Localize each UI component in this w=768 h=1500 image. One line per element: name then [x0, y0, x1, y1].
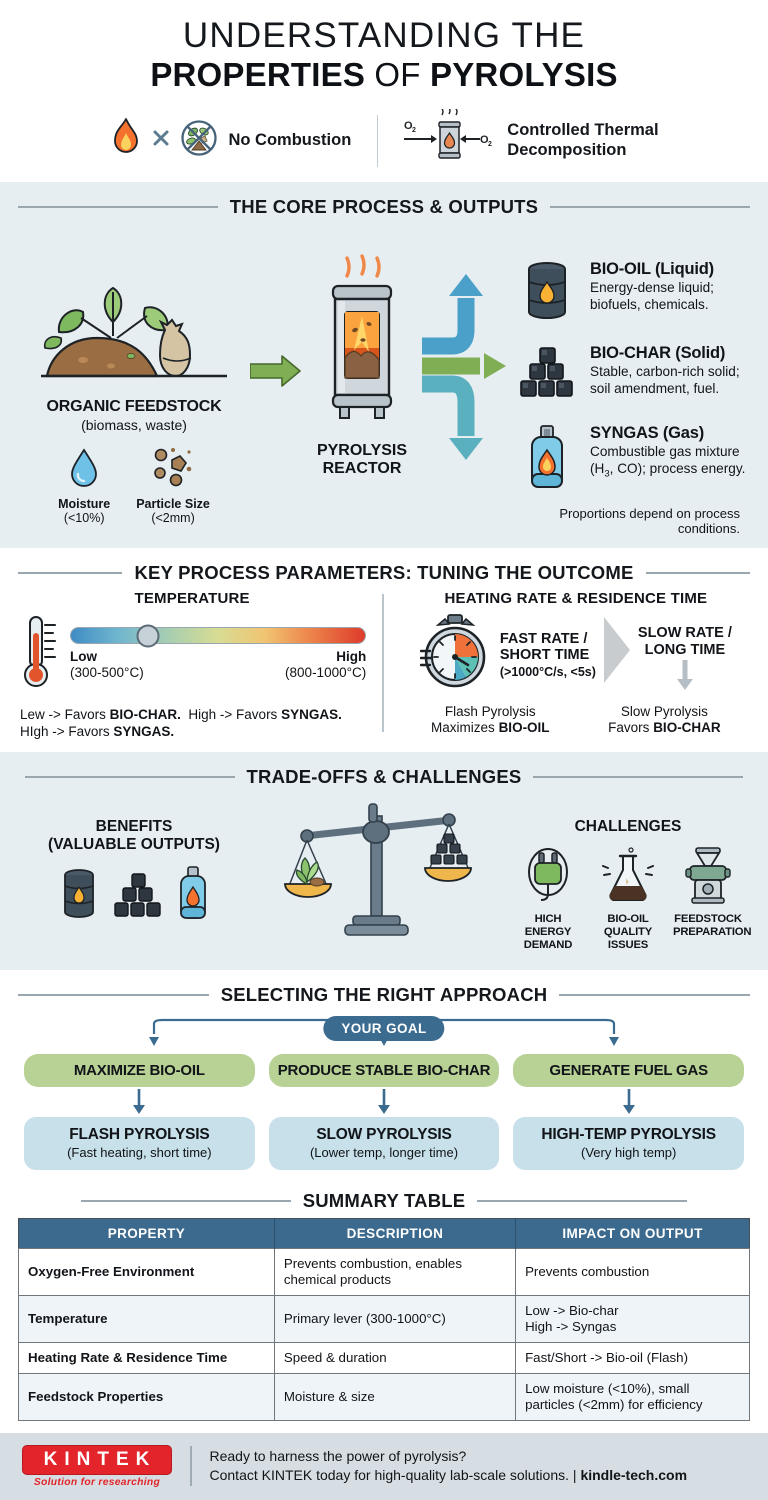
- temp-high-label: High: [285, 649, 366, 665]
- feedstock-property-particle-size: Particle Size (<2mm): [136, 447, 210, 525]
- approach-goal-card[interactable]: GENERATE FUEL GAS: [513, 1054, 744, 1087]
- heating-rate-captions: Flash Pyrolysis Maximizes BIO-OIL Slow P…: [402, 704, 750, 736]
- pyrolysis-reactor-icon: [307, 416, 417, 433]
- core-process-heading-row: THE CORE PROCESS & OUTPUTS: [18, 196, 750, 218]
- output-bio-char-desc: Stable, carbon-rich solid; soil amendmen…: [590, 364, 740, 397]
- approach-path: GENERATE FUEL GAS HIGH-TEMP PYROLYSIS (V…: [513, 1054, 744, 1170]
- flask-icon: [602, 891, 654, 908]
- grinder-icon: [682, 891, 734, 908]
- temperature-gradient-bar[interactable]: [70, 627, 366, 644]
- temperature-title: TEMPERATURE: [18, 590, 366, 607]
- rule-left: [18, 206, 218, 208]
- rule-left: [18, 572, 122, 574]
- table-row: Heating Rate & Residence Time Speed & du…: [19, 1342, 750, 1373]
- approach-method-card[interactable]: FLASH PYROLYSIS (Fast heating, short tim…: [24, 1117, 255, 1170]
- table-row: Temperature Primary lever (300-1000°C) L…: [19, 1295, 750, 1342]
- output-arrows: [422, 224, 512, 484]
- bio-oil-desc1: Energy-dense liquid;: [590, 280, 714, 295]
- reactor-label: PYROLYSIS REACTOR: [302, 442, 422, 478]
- logo-wordmark: KINTEK: [22, 1445, 172, 1475]
- header-badges: No Combustion O 2 O 2: [20, 109, 748, 172]
- challenge-item: FEEDSTOCK PREPARATION: [673, 846, 743, 952]
- chal1-line3: ISSUES: [608, 939, 648, 951]
- slow-rate-group: SLOW RATE / LONG TIME: [638, 613, 732, 697]
- approach-method-card[interactable]: SLOW PYROLYSIS (Lower temp, longer time): [269, 1117, 500, 1170]
- output-bio-char: BIO-CHAR (Solid) Stable, carbon-rich sol…: [516, 344, 750, 402]
- temp-low-label: Low: [70, 649, 144, 665]
- challenges-title: CHALLENGES: [512, 818, 744, 836]
- temp-note-2: HIgh -> Favors SYNGAS.: [20, 724, 174, 739]
- cell-property: Feedstock Properties: [19, 1373, 275, 1420]
- output-syngas: SYNGAS (Gas) Combustible gas mixture (H3…: [516, 424, 750, 490]
- approach-path: MAXIMIZE BIO-OIL FLASH PYROLYSIS (Fast h…: [24, 1054, 255, 1170]
- cell-property: Temperature: [19, 1295, 275, 1342]
- output-bio-oil: BIO-OIL (Liquid) Energy-dense liquid; bi…: [516, 260, 750, 322]
- table-row: Oxygen-Free Environment Prevents combust…: [19, 1248, 750, 1295]
- column-description: DESCRIPTION: [274, 1218, 515, 1248]
- chal1-line2: QUALITY: [604, 926, 652, 938]
- section-tradeoffs: TRADE-OFFS & CHALLENGES BENEFITS (VALUAB…: [0, 752, 768, 970]
- syngas-desc2: (H3, CO); process energy.: [590, 461, 745, 476]
- approach-method-card[interactable]: HIGH-TEMP PYROLYSIS (Very high temp): [513, 1117, 744, 1170]
- flash-pyrolysis-caption: Flash Pyrolysis Maximizes BIO-OIL: [431, 704, 550, 736]
- approach-goal-card[interactable]: PRODUCE STABLE BIO-CHAR: [269, 1054, 500, 1087]
- output-syngas-text: SYNGAS (Gas) Combustible gas mixture (H3…: [590, 424, 745, 480]
- rule-right: [559, 994, 750, 996]
- challenge-item: BIO-OIL QUALITY ISSUES: [593, 846, 663, 952]
- column-impact: IMPACT ON OUTPUT: [516, 1218, 750, 1248]
- temperature-high: High (800-1000°C): [285, 649, 366, 680]
- gas-cylinder-icon: [177, 865, 209, 926]
- moisture-value: (<10%): [58, 511, 110, 525]
- cell-description: Primary lever (300-1000°C): [274, 1295, 515, 1342]
- transition-arrow-icon: [600, 613, 634, 692]
- temperature-slider[interactable]: Low (300-500°C) High (800-1000°C): [70, 613, 366, 680]
- output-bio-char-text: BIO-CHAR (Solid) Stable, carbon-rich sol…: [590, 344, 740, 397]
- approach-heading: SELECTING THE RIGHT APPROACH: [221, 984, 548, 1006]
- section-core-process: THE CORE PROCESS & OUTPUTS: [0, 182, 768, 548]
- benefits-icons: [24, 865, 244, 926]
- ctd-line2: Decomposition: [507, 141, 626, 159]
- chal0-line2: DEMAND: [524, 939, 572, 951]
- chal0-line1: HICH ENERGY: [525, 913, 572, 938]
- table-row: Feedstock Properties Moisture & size Low…: [19, 1373, 750, 1420]
- temp-low-range: (300-500°C): [70, 665, 144, 680]
- ctd-line1: Controlled Thermal: [507, 121, 658, 139]
- output-bio-oil-desc: Energy-dense liquid; biofuels, chemicals…: [590, 280, 714, 313]
- outputs-list: BIO-OIL (Liquid) Energy-dense liquid; bi…: [512, 224, 750, 536]
- heating-rate-title: HEATING RATE & RESIDENCE TIME: [402, 590, 750, 607]
- chal2-line1: FEEDSTOCK: [674, 913, 742, 925]
- footer-cta: Ready to harness the power of pyrolysis?…: [210, 1447, 688, 1486]
- temperature-knob[interactable]: [136, 624, 159, 647]
- challenge-item: HICH ENERGY DEMAND: [513, 846, 583, 952]
- heating-rate-panel: HEATING RATE & RESIDENCE TIME: [384, 590, 750, 740]
- particle-size-value: (<2mm): [136, 511, 210, 525]
- flame-icon: [109, 117, 143, 164]
- slow-line2: LONG TIME: [645, 642, 726, 658]
- approach-method-detail: (Lower temp, longer time): [275, 1145, 494, 1160]
- flash-line2: Maximizes BIO-OIL: [431, 720, 550, 735]
- output-syngas-title: SYNGAS (Gas): [590, 424, 745, 442]
- cell-property: Oxygen-Free Environment: [19, 1248, 275, 1295]
- gas-cylinder-icon: [516, 424, 578, 490]
- fast-line3: (>1000°C/s, <5s): [500, 665, 596, 679]
- bio-char-desc2: soil amendment, fuel.: [590, 381, 719, 396]
- cell-description: Speed & duration: [274, 1342, 515, 1373]
- chal1-line1: BIO-OIL: [607, 913, 648, 925]
- temp-high-range: (800-1000°C): [285, 665, 366, 680]
- rule-right: [646, 572, 750, 574]
- section-summary-table: SUMMARY TABLE PROPERTY DESCRIPTION IMPAC…: [0, 1182, 768, 1433]
- goal-pill[interactable]: YOUR GOAL: [323, 1016, 444, 1041]
- svg-text:2: 2: [488, 141, 492, 148]
- oil-barrel-icon: [516, 260, 578, 322]
- biomass-plant-icon: [39, 378, 229, 395]
- slowp-line2: Favors BIO-CHAR: [608, 720, 721, 735]
- output-bio-oil-text: BIO-OIL (Liquid) Energy-dense liquid; bi…: [590, 260, 714, 313]
- slow-pyrolysis-caption: Slow Pyrolysis Favors BIO-CHAR: [608, 704, 721, 736]
- title-properties: PROPERTIES: [150, 56, 365, 93]
- reactor-o2-icon: O 2 O 2: [402, 109, 498, 172]
- particles-icon: [149, 476, 197, 493]
- power-plug-icon: [522, 891, 574, 908]
- approach-paths: MAXIMIZE BIO-OIL FLASH PYROLYSIS (Fast h…: [18, 1054, 750, 1170]
- tradeoffs-heading: TRADE-OFFS & CHALLENGES: [247, 766, 522, 788]
- proportions-footnote: Proportions depend on process conditions…: [516, 506, 750, 536]
- challenge-label: HICH ENERGY DEMAND: [513, 913, 583, 952]
- footer-line2: Contact KINTEK today for high-quality la…: [210, 1467, 577, 1483]
- temperature-scale-labels: Low (300-500°C) High (800-1000°C): [70, 649, 366, 680]
- key-parameters-heading: KEY PROCESS PARAMETERS: TUNING THE OUTCO…: [134, 562, 633, 584]
- logo-tagline: Solution for researching: [22, 1477, 172, 1488]
- thermometer-icon: [22, 613, 62, 698]
- benefits-line1: BENEFITS: [96, 818, 173, 835]
- chal2-line2: PREPARATION: [673, 926, 751, 938]
- footer-divider: [190, 1446, 192, 1486]
- badge-controlled-decomposition: O 2 O 2: [378, 109, 658, 172]
- summary-table-head: PROPERTY DESCRIPTION IMPACT ON OUTPUT: [19, 1218, 750, 1248]
- cell-impact: Low -> Bio-char High -> Syngas: [516, 1295, 750, 1342]
- output-bio-char-title: BIO-CHAR (Solid): [590, 344, 740, 362]
- cell-description: Moisture & size: [274, 1373, 515, 1420]
- cell-impact: Prevents combustion: [516, 1248, 750, 1295]
- no-biomass-icon: [179, 118, 219, 163]
- charcoal-blocks-icon: [516, 344, 578, 402]
- fast-rate-text: FAST RATE / SHORT TIME (>1000°C/s, <5s): [500, 631, 596, 681]
- benefits-group: BENEFITS (VALUABLE OUTPUTS): [24, 798, 244, 926]
- slow-line1: SLOW RATE /: [638, 625, 732, 641]
- section-key-parameters: KEY PROCESS PARAMETERS: TUNING THE OUTCO…: [0, 548, 768, 752]
- output-bio-oil-title: BIO-OIL (Liquid): [590, 260, 714, 278]
- approach-method-detail: (Fast heating, short time): [30, 1145, 249, 1160]
- svg-text:2: 2: [412, 127, 416, 134]
- reactor-label-line2: REACTOR: [323, 460, 402, 477]
- particle-size-label: Particle Size: [136, 497, 210, 511]
- kintek-logo[interactable]: KINTEK Solution for researching: [22, 1445, 172, 1488]
- no-combustion-label: No Combustion: [228, 131, 351, 150]
- times-icon: [152, 129, 170, 152]
- reactor-group: PYROLYSIS REACTOR: [302, 224, 422, 478]
- cell-property: Heating Rate & Residence Time: [19, 1342, 275, 1373]
- footer: KINTEK Solution for researching Ready to…: [0, 1433, 768, 1500]
- page-title-line1: UNDERSTANDING THE: [20, 18, 748, 55]
- rule-right: [477, 1200, 687, 1202]
- output-syngas-desc: Combustible gas mixture (H3, CO); proces…: [590, 444, 745, 480]
- challenge-label: BIO-OIL QUALITY ISSUES: [593, 913, 663, 952]
- page-title-line2: PROPERTIES OF PYROLYSIS: [20, 57, 748, 93]
- benefits-line2: (VALUABLE OUTPUTS): [48, 836, 220, 853]
- balance-scale-group: [283, 798, 473, 945]
- feed-arrow: [250, 224, 302, 393]
- temperature-slider-row: Low (300-500°C) High (800-1000°C): [18, 613, 366, 698]
- cell-impact: Fast/Short -> Bio-oil (Flash): [516, 1342, 750, 1373]
- feedstock-properties: Moisture (<10%): [18, 447, 250, 525]
- approach-method-title: HIGH-TEMP PYROLYSIS: [519, 1126, 738, 1144]
- down-arrow-icon: [673, 679, 697, 696]
- challenge-items: HICH ENERGY DEMAND: [512, 846, 744, 952]
- fast-rate-group: FAST RATE / SHORT TIME (>1000°C/s, <5s): [420, 613, 596, 698]
- approach-heading-row: SELECTING THE RIGHT APPROACH: [18, 984, 750, 1006]
- slowp-line1: Slow Pyrolysis: [621, 704, 708, 719]
- bio-oil-desc2: biofuels, chemicals.: [590, 297, 709, 312]
- summary-heading: SUMMARY TABLE: [303, 1190, 466, 1212]
- temperature-low: Low (300-500°C): [70, 649, 144, 680]
- approach-goal-card[interactable]: MAXIMIZE BIO-OIL: [24, 1054, 255, 1087]
- core-process-diagram: ORGANIC FEEDSTOCK (biomass, waste) Moist…: [18, 224, 750, 536]
- section-approach: SELECTING THE RIGHT APPROACH YOUR GOAL M…: [0, 970, 768, 1182]
- benefits-title: BENEFITS (VALUABLE OUTPUTS): [24, 818, 244, 853]
- bio-char-desc1: Stable, carbon-rich solid;: [590, 364, 740, 379]
- feedstock-property-moisture: Moisture (<10%): [58, 447, 110, 525]
- title-pyrolysis: PYROLYSIS: [430, 56, 618, 93]
- heating-rate-row: FAST RATE / SHORT TIME (>1000°C/s, <5s) …: [402, 613, 750, 698]
- footer-website[interactable]: kindle-tech.com: [580, 1467, 687, 1483]
- summary-table-body: Oxygen-Free Environment Prevents combust…: [19, 1248, 750, 1420]
- fast-line2: SHORT TIME: [500, 647, 589, 663]
- stopwatch-icon: [420, 613, 492, 698]
- approach-method-title: SLOW PYROLYSIS: [275, 1126, 494, 1144]
- controlled-decomposition-label: Controlled Thermal Decomposition: [507, 121, 658, 160]
- water-drop-icon: [67, 476, 101, 493]
- approach-method-title: FLASH PYROLYSIS: [30, 1126, 249, 1144]
- rule-right: [550, 206, 750, 208]
- rule-left: [25, 776, 235, 778]
- challenges-group: CHALLENGES H: [512, 798, 744, 952]
- rule-left: [18, 994, 209, 996]
- arrow-down-icon: [24, 1087, 255, 1117]
- goal-connector-area: YOUR GOAL: [18, 1012, 750, 1054]
- arrow-down-icon: [513, 1087, 744, 1117]
- approach-path: PRODUCE STABLE BIO-CHAR SLOW PYROLYSIS (…: [269, 1054, 500, 1170]
- temp-note-1: Lew -> Favors BIO-CHAR. High -> Favors S…: [20, 707, 342, 722]
- moisture-label: Moisture: [58, 497, 110, 511]
- balance-scale-icon: [283, 927, 473, 944]
- oil-barrel-icon: [59, 867, 99, 926]
- challenge-label: FEEDSTOCK PREPARATION: [673, 913, 743, 939]
- key-parameters-heading-row: KEY PROCESS PARAMETERS: TUNING THE OUTCO…: [18, 562, 750, 584]
- badge-no-combustion: No Combustion: [109, 117, 377, 164]
- rule-right: [533, 776, 743, 778]
- feedstock-title: ORGANIC FEEDSTOCK: [18, 398, 250, 416]
- feedstock-subtitle: (biomass, waste): [18, 417, 250, 433]
- tradeoffs-content: BENEFITS (VALUABLE OUTPUTS): [18, 794, 750, 958]
- table-header-row: PROPERTY DESCRIPTION IMPACT ON OUTPUT: [19, 1218, 750, 1248]
- core-process-heading: THE CORE PROCESS & OUTPUTS: [230, 196, 538, 218]
- charcoal-blocks-icon: [113, 871, 163, 926]
- summary-table: PROPERTY DESCRIPTION IMPACT ON OUTPUT Ox…: [18, 1218, 750, 1421]
- reactor-label-line1: PYROLYSIS: [317, 442, 407, 459]
- infographic-page: UNDERSTANDING THE PROPERTIES OF PYROLYSI…: [0, 0, 768, 1376]
- approach-method-detail: (Very high temp): [519, 1145, 738, 1160]
- cell-description: Prevents combustion, enables chemical pr…: [274, 1248, 515, 1295]
- syngas-desc1: Combustible gas mixture: [590, 444, 740, 459]
- title-of: OF: [374, 56, 420, 93]
- header: UNDERSTANDING THE PROPERTIES OF PYROLYSI…: [0, 0, 768, 182]
- temperature-notes: Lew -> Favors BIO-CHAR. High -> Favors S…: [18, 706, 366, 740]
- column-property: PROPERTY: [19, 1218, 275, 1248]
- rule-left: [81, 1200, 291, 1202]
- cell-impact: Low moisture (<10%), small particles (<2…: [516, 1373, 750, 1420]
- arrow-down-icon: [269, 1087, 500, 1117]
- fast-line1: FAST RATE /: [500, 631, 588, 647]
- parameters-columns: TEMPERATURE: [18, 590, 750, 740]
- feedstock-group: ORGANIC FEEDSTOCK (biomass, waste) Moist…: [18, 224, 250, 525]
- footer-line1: Ready to harness the power of pyrolysis?: [210, 1448, 467, 1464]
- temperature-panel: TEMPERATURE: [18, 590, 382, 740]
- flash-line1: Flash Pyrolysis: [445, 704, 536, 719]
- summary-heading-row: SUMMARY TABLE: [18, 1190, 750, 1212]
- slow-rate-text: SLOW RATE / LONG TIME: [638, 625, 732, 658]
- tradeoffs-heading-row: TRADE-OFFS & CHALLENGES: [18, 766, 750, 788]
